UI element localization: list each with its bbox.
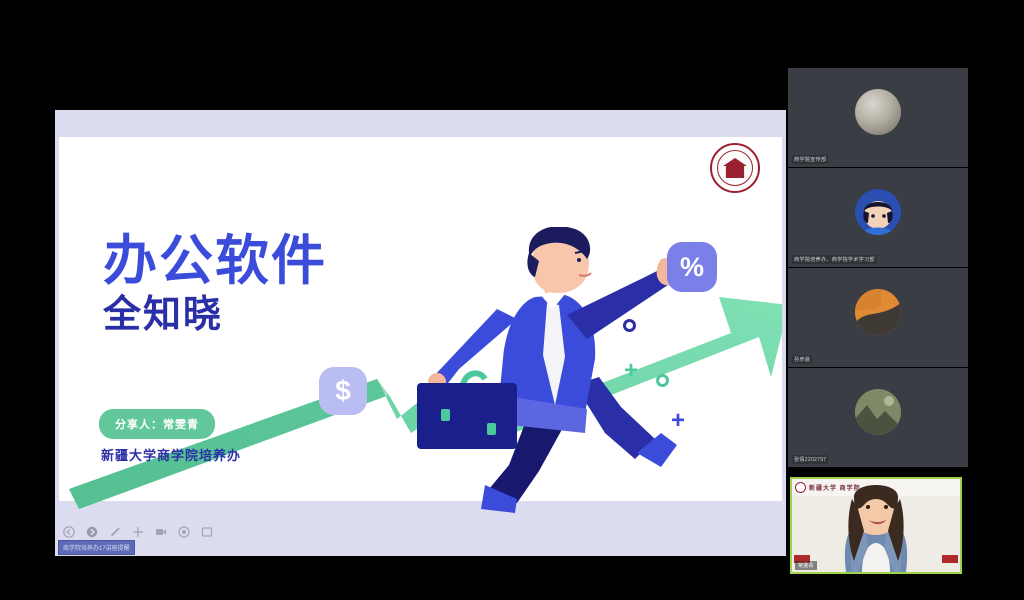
- plus-decoration-green: +: [624, 359, 638, 383]
- participant-name: 商学院宣传部: [792, 155, 828, 164]
- anime-avatar: [855, 189, 901, 235]
- taskbar-notification[interactable]: 商学院培养办17讲座提醒: [58, 540, 135, 555]
- ppt-slideshow-toolbar[interactable]: [55, 524, 786, 540]
- participant-name: 商学院培养办、商学院学术学习部: [792, 255, 877, 264]
- shared-screen-area: % $ + + 办公软件 全知晓 分享人：常雯青 新疆大学商学院培养办: [0, 24, 786, 556]
- participant-tile[interactable]: 张倩2202797: [788, 368, 968, 467]
- participant-name: 孙彦晨: [792, 355, 812, 364]
- percent-symbol: %: [680, 252, 704, 283]
- laser-pointer-icon[interactable]: [132, 526, 144, 538]
- options-icon[interactable]: [178, 526, 190, 538]
- shared-desktop: % $ + + 办公软件 全知晓 分享人：常雯青 新疆大学商学院培养办: [55, 110, 786, 556]
- meeting-screen: % $ + + 办公软件 全知晓 分享人：常雯青 新疆大学商学院培养办: [0, 0, 1024, 600]
- plus-decoration-blue: +: [671, 409, 685, 433]
- photo-avatar: [855, 389, 901, 435]
- fullscreen-icon[interactable]: [201, 526, 213, 538]
- participant-tile[interactable]: 商学院宣传部: [788, 68, 968, 167]
- dollar-symbol: $: [335, 375, 351, 407]
- circle-decoration-navy: [623, 319, 636, 332]
- slide-title-sub: 全知晓: [103, 295, 223, 333]
- dollar-badge: $: [319, 367, 367, 415]
- pen-icon[interactable]: [109, 526, 121, 538]
- participant-tile[interactable]: 商学院培养办、商学院学术学习部: [788, 168, 968, 267]
- participant-name: 张倩2202797: [792, 455, 828, 464]
- active-speaker-tile[interactable]: 新疆大学 商学院 常雯青: [790, 477, 962, 574]
- slide-view-icon[interactable]: [155, 526, 167, 538]
- moon-avatar: [855, 89, 901, 135]
- participant-tile[interactable]: 孙彦晨: [788, 268, 968, 367]
- banner-red-accent-right: [942, 555, 958, 563]
- university-seal-logo: [710, 143, 760, 193]
- speaker-name: 常雯青: [795, 561, 817, 570]
- next-slide-icon[interactable]: [86, 526, 98, 538]
- slide-title-main: 办公软件: [103, 234, 327, 288]
- presentation-slide[interactable]: % $ + + 办公软件 全知晓 分享人：常雯青 新疆大学商学院培养办: [59, 137, 782, 519]
- organization-label: 新疆大学商学院培养办: [101, 445, 241, 464]
- previous-slide-icon[interactable]: [63, 526, 75, 538]
- orange-avatar: [855, 289, 901, 335]
- circle-decoration-green: [656, 374, 669, 387]
- percent-badge: %: [667, 242, 717, 292]
- seal-gate-icon: [723, 158, 747, 178]
- presenter-badge: 分享人：常雯青: [99, 409, 215, 439]
